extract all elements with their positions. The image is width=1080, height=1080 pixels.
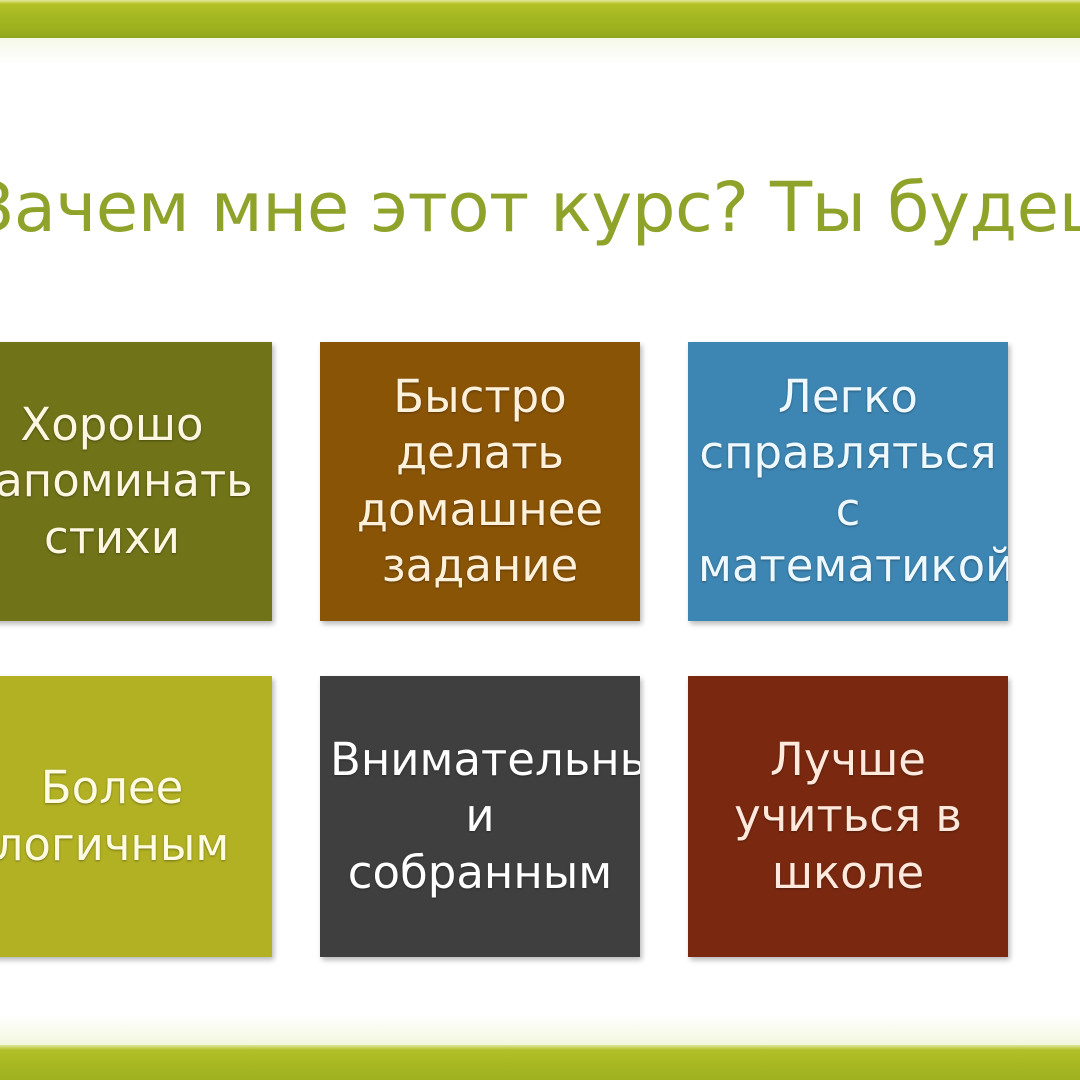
page-title: Зачем мне этот курс? Ты будешь:: [0, 163, 1080, 253]
benefit-card-1[interactable]: Хорошо запоминать стихи: [0, 342, 272, 621]
benefit-card-2-label: Быстро делать домашнее задание: [330, 369, 630, 594]
top-band-fade: [0, 38, 1080, 64]
benefit-card-3[interactable]: Легко справляться с математикой: [688, 342, 1008, 621]
benefit-card-4-label: Более логичным: [0, 760, 262, 873]
bottom-band-fade: [0, 1016, 1080, 1045]
benefit-card-4[interactable]: Более логичным: [0, 676, 272, 957]
benefits-card-grid: Хорошо запоминать стихи Быстро делать до…: [0, 342, 1080, 957]
benefit-card-5[interactable]: Внимательным и собранным: [320, 676, 640, 957]
benefit-card-5-label: Внимательным и собранным: [330, 732, 630, 901]
benefit-card-6[interactable]: Лучше учиться в школе: [688, 676, 1008, 957]
top-decorative-band: [0, 0, 1080, 38]
bottom-decorative-band: [0, 1045, 1080, 1080]
benefit-card-2[interactable]: Быстро делать домашнее задание: [320, 342, 640, 621]
benefit-card-3-label: Легко справляться с математикой: [698, 369, 998, 594]
benefit-card-1-label: Хорошо запоминать стихи: [0, 397, 262, 566]
benefit-card-6-label: Лучше учиться в школе: [698, 732, 998, 901]
